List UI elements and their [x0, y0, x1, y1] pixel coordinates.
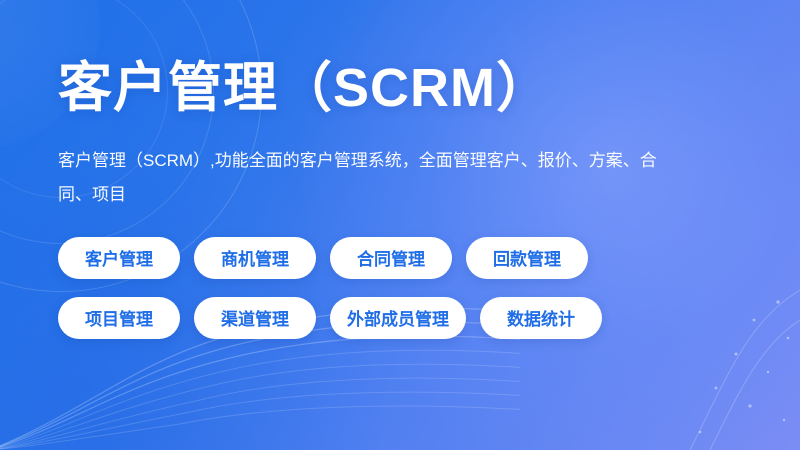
banner-content: 客户管理（SCRM） 客户管理（SCRM）,功能全面的客户管理系统，全面管理客户…	[58, 58, 760, 339]
scrm-hero-banner: 客户管理（SCRM） 客户管理（SCRM）,功能全面的客户管理系统，全面管理客户…	[0, 0, 800, 450]
feature-tag-contract-management[interactable]: 合同管理	[330, 237, 452, 279]
feature-tag-project-management[interactable]: 项目管理	[58, 297, 180, 339]
feature-tag-list: 客户管理 商机管理 合同管理 回款管理 项目管理 渠道管理 外部成员管理 数据统…	[58, 237, 678, 339]
feature-tag-external-member-management[interactable]: 外部成员管理	[330, 297, 466, 339]
feature-tag-opportunity-management[interactable]: 商机管理	[194, 237, 316, 279]
page-subtitle: 客户管理（SCRM）,功能全面的客户管理系统，全面管理客户、报价、方案、合同、项…	[58, 144, 658, 210]
feature-tag-data-statistics[interactable]: 数据统计	[480, 297, 602, 339]
page-title: 客户管理（SCRM）	[58, 58, 760, 118]
feature-tag-customer-management[interactable]: 客户管理	[58, 237, 180, 279]
feature-tag-channel-management[interactable]: 渠道管理	[194, 297, 316, 339]
feature-tag-payment-collection[interactable]: 回款管理	[466, 237, 588, 279]
